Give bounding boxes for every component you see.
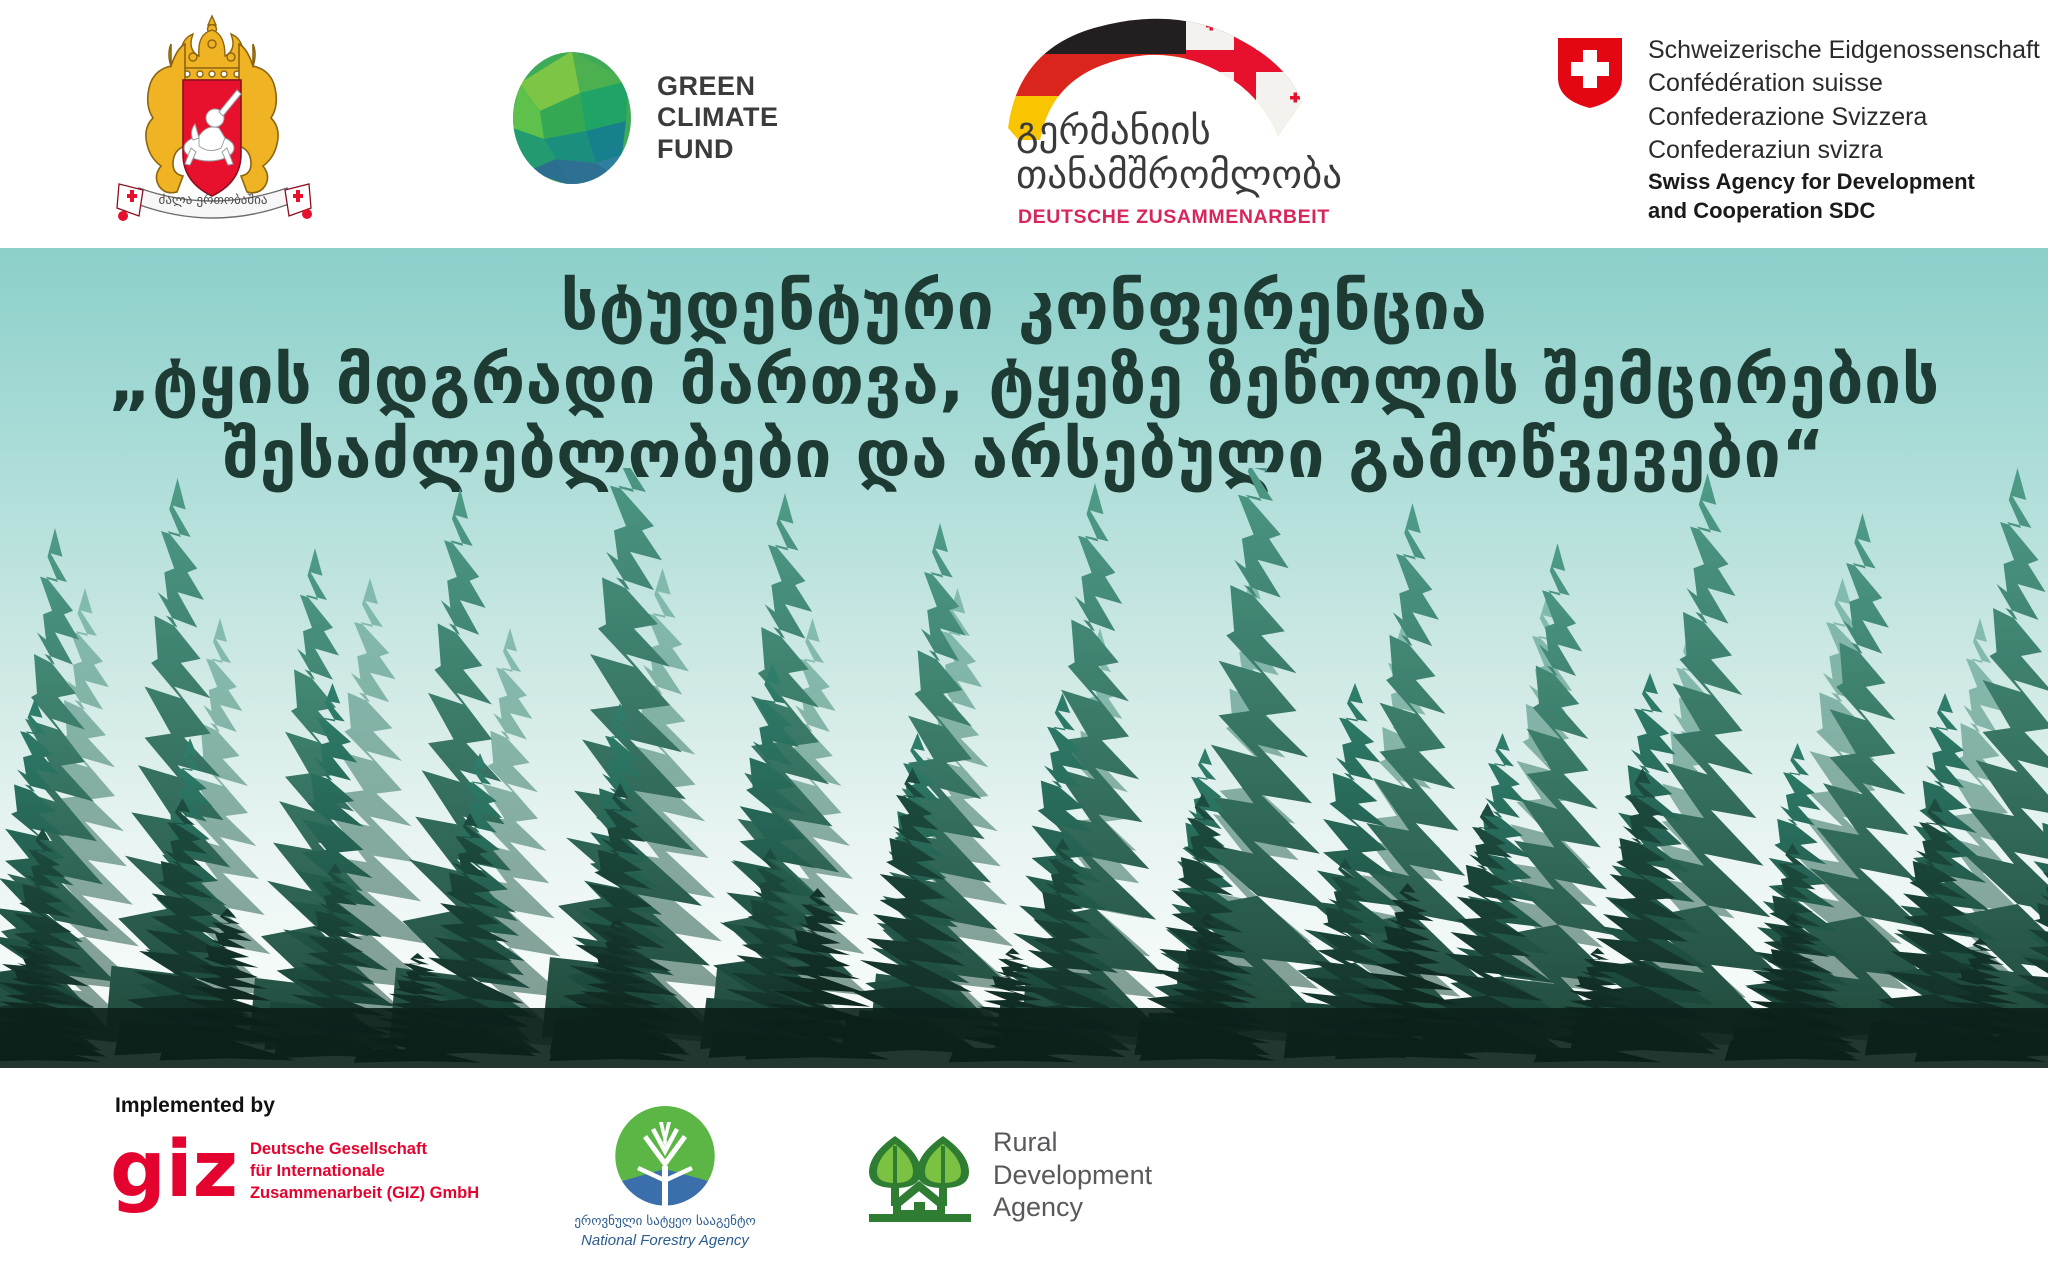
swiss-confederation-logo: Schweizerische Eidgenossenschaft Confédé… (1558, 30, 1978, 215)
gcf-line-3: FUND (657, 134, 778, 166)
forestry-tree-circle-icon (550, 1106, 780, 1211)
german-coop-geo-line-1: გერმანიის (1016, 110, 1342, 154)
swiss-name-fr: Confédération suisse (1648, 67, 2040, 100)
sdc-line-2: and Cooperation SDC (1648, 197, 1975, 226)
rda-line-1: Rural (993, 1126, 1152, 1159)
gcf-wordmark: GREEN CLIMATE FUND (657, 71, 778, 166)
green-climate-fund-logo: GREEN CLIMATE FUND (510, 28, 860, 208)
coat-of-arms-motto: ძალა ერთობაშია (159, 193, 268, 208)
conference-banner: სტუდენტური კონფერენცია „ტყის მდგრადი მარ… (0, 248, 2048, 1068)
giz-wordmark: giz (110, 1139, 238, 1203)
title-line-1: სტუდენტური კონფერენცია (0, 270, 2048, 344)
gcf-gem-icon (510, 51, 635, 186)
conference-title: სტუდენტური კონფერენცია „ტყის მდგრადი მარ… (0, 270, 2048, 492)
swiss-cross-shield-icon (1558, 38, 1622, 108)
german-cooperation-logo: გერმანიის თანამშრომლობა DEUTSCHE ZUSAMME… (990, 10, 1370, 225)
sdc-agency-name: Swiss Agency for Development and Coopera… (1648, 168, 1975, 225)
nfa-english-name: National Forestry Agency (550, 1232, 780, 1249)
gcf-line-2: CLIMATE (657, 102, 778, 134)
top-donor-bar: ძალა ერთობაშია (0, 0, 2048, 248)
german-cooperation-german-text: DEUTSCHE ZUSAMMENARBEIT (1018, 206, 1330, 229)
rural-development-agency-logo: Rural Development Agency (865, 1120, 1155, 1230)
giz-full-name: Deutsche Gesellschaft für Internationale… (250, 1138, 479, 1204)
sdc-line-1: Swiss Agency for Development (1648, 168, 1975, 197)
rda-wordmark: Rural Development Agency (993, 1126, 1152, 1225)
coat-of-arms-of-georgia-logo: ძალა ერთობაშია (95, 8, 330, 233)
giz-line-2: für Internationale (250, 1160, 479, 1182)
german-cooperation-georgian-text: გერმანიის თანამშრომლობა (1016, 110, 1342, 197)
swiss-name-rm: Confederaziun svizra (1648, 134, 2040, 167)
rda-line-3: Agency (993, 1191, 1152, 1224)
conference-poster: ძალა ერთობაშია (0, 0, 2048, 1271)
swiss-confederation-names: Schweizerische Eidgenossenschaft Confédé… (1648, 34, 2040, 167)
giz-logo: giz Deutsche Gesellschaft für Internatio… (110, 1126, 440, 1216)
nfa-georgian-name: ეროვნული სატყეო სააგენტო (550, 1214, 780, 1229)
bottom-partner-bar: Implemented by giz Deutsche Gesellschaft… (0, 1068, 2048, 1271)
gcf-line-1: GREEN (657, 71, 778, 103)
giz-line-3: Zusammenarbeit (GIZ) GmbH (250, 1182, 479, 1204)
rda-line-2: Development (993, 1159, 1152, 1192)
forest-silhouette-illustration (0, 468, 2048, 1068)
title-line-2: „ტყის მდგრადი მართვა, ტყეზე ზეწოლის შემც… (0, 344, 2048, 418)
german-coop-geo-line-2: თანამშრომლობა (1016, 154, 1342, 198)
giz-line-1: Deutsche Gesellschaft (250, 1138, 479, 1160)
swiss-name-de: Schweizerische Eidgenossenschaft (1648, 34, 2040, 67)
implemented-by-label: Implemented by (115, 1094, 275, 1118)
rda-trees-house-icon (865, 1128, 975, 1223)
coat-of-arms-icon: ძალა ერთობაშია (95, 8, 330, 233)
national-forestry-agency-logo: ეროვნული სატყეო სააგენტო National Forest… (550, 1106, 780, 1256)
swiss-name-it: Confederazione Svizzera (1648, 101, 2040, 134)
